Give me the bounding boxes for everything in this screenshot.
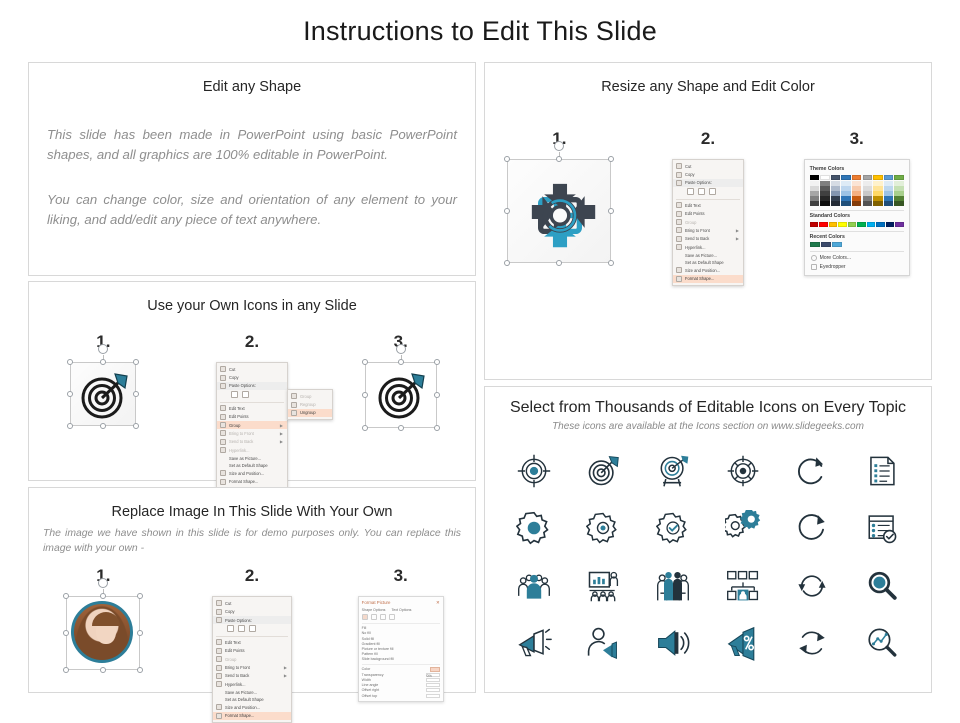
tint-column[interactable] <box>820 181 829 206</box>
size-position-icon <box>676 267 682 273</box>
step-number: 3. <box>850 129 864 149</box>
step-number: 2. <box>245 332 259 352</box>
context-menu-item-hyperlink[interactable]: Hyperlink... <box>673 243 743 251</box>
context-menu-item-edit-points[interactable]: Edit Points <box>217 413 287 421</box>
context-menu-item-copy[interactable]: Copy <box>673 170 743 178</box>
chevron-right-icon: ▶ <box>284 665 287 670</box>
edit-points-icon <box>216 648 222 654</box>
eyedropper-icon <box>811 264 817 270</box>
icon-cell[interactable] <box>656 511 690 545</box>
format-shape-icon <box>216 713 222 719</box>
own-icons-step-3: 3. <box>326 332 475 489</box>
panel-subtitle-icon-library: These icons are available at the Icons s… <box>485 421 931 432</box>
format-pane-tabs[interactable]: Shape Options Text Options <box>362 608 440 612</box>
hyperlink-icon <box>220 447 226 453</box>
rotate-handle-icon[interactable] <box>98 578 108 588</box>
theme-colors-row[interactable] <box>810 175 904 180</box>
icon-cell[interactable] <box>586 511 620 545</box>
panel-title-icon-library: Select from Thousands of Editable Icons … <box>485 399 931 417</box>
icon-cell[interactable] <box>865 454 899 488</box>
group-icon <box>291 393 297 399</box>
width-value[interactable] <box>426 678 440 682</box>
reload-circle-icon <box>795 511 829 545</box>
offset-right-value[interactable] <box>426 688 440 692</box>
more-colors-icon <box>811 255 817 261</box>
icon-cell[interactable] <box>795 569 829 603</box>
avatar <box>71 601 133 663</box>
circular-arrows-icon <box>795 626 829 660</box>
eyedropper-button[interactable]: Eyedropper <box>810 262 904 271</box>
edit-shape-paragraph-1: This slide has been made in PowerPoint u… <box>29 125 475 166</box>
bring-to-front-icon <box>676 227 682 233</box>
hyperlink-icon <box>676 244 682 250</box>
tint-column[interactable] <box>894 181 903 206</box>
fill-icon <box>362 614 368 620</box>
context-menu-item-set-default-shape[interactable]: Set as Default Shape <box>673 259 743 266</box>
step-artwork <box>70 362 136 426</box>
group-icon <box>220 422 226 428</box>
edit-points-icon <box>220 414 226 420</box>
context-menu-item-save-as-picture[interactable]: Save as Picture... <box>213 689 291 696</box>
context-menu-item-edit-text[interactable]: Edit Text <box>213 638 291 646</box>
step-artwork <box>66 596 140 670</box>
crosshair-scope-icon <box>725 453 761 489</box>
context-menu-item-set-default-shape[interactable]: Set as Default Shape <box>213 696 291 703</box>
transparency-value[interactable]: 0% <box>426 673 440 677</box>
swatch-theme-2[interactable] <box>831 175 840 180</box>
swatch-theme-1[interactable] <box>820 175 829 180</box>
icon-cell[interactable] <box>795 454 829 488</box>
ungroup-icon <box>291 410 297 416</box>
step-artwork: Cut Copy Paste Options: Edit Text Edit P… <box>212 596 292 723</box>
panel-replace-image: Replace Image In This Slide With Your Ow… <box>28 487 476 693</box>
icon-cell[interactable] <box>725 568 761 604</box>
people-three-icon <box>655 568 691 604</box>
crosshair-target-icon <box>516 453 552 489</box>
paste-merge-icon <box>709 188 716 195</box>
context-menu-item-group[interactable]: Group <box>673 218 743 226</box>
close-icon[interactable]: ✕ <box>436 600 440 606</box>
replace-image-steps: 1. 2. Cut Copy P <box>29 566 475 723</box>
checklist-document-icon <box>865 454 899 488</box>
swatch-standard-0[interactable] <box>810 222 818 227</box>
tint-column[interactable] <box>863 181 872 206</box>
step-artwork <box>365 362 437 428</box>
step-artwork <box>507 159 611 263</box>
paste-keep-formatting-icon <box>231 391 238 398</box>
icon-cell[interactable] <box>795 511 829 545</box>
context-menu-item-paste-options[interactable]: Paste Options: <box>213 616 291 624</box>
icon-cell[interactable] <box>865 569 899 603</box>
tab-text-options[interactable]: Text Options <box>391 608 411 612</box>
context-menu-item-edit-text[interactable]: Edit Text <box>673 201 743 209</box>
selected-image-frame[interactable] <box>66 596 140 670</box>
swatch-recent-1[interactable] <box>821 242 831 247</box>
context-menu-item-size-and-position[interactable]: Size and Position... <box>213 703 291 711</box>
context-menu-item-edit-points[interactable]: Edit Points <box>673 210 743 218</box>
dartboard-arrow-icon <box>77 369 131 421</box>
refresh-clockwise-icon <box>795 454 829 488</box>
icon-cell[interactable] <box>585 625 621 661</box>
swatch-standard-5[interactable] <box>857 222 865 227</box>
cut-icon <box>216 600 222 606</box>
panel-title-own-icons: Use your Own Icons in any Slide <box>29 298 475 314</box>
copy-icon <box>220 375 226 381</box>
paste-keep-formatting-icon <box>687 188 694 195</box>
size-position-icon <box>216 704 222 710</box>
person-megaphone-icon <box>585 625 621 661</box>
context-menu-item-edit-text[interactable]: Edit Text <box>217 404 287 412</box>
tint-column[interactable] <box>841 181 850 206</box>
edit-points-icon <box>676 211 682 217</box>
edit-text-icon <box>676 202 682 208</box>
swatch-theme-6[interactable] <box>873 175 882 180</box>
copy-icon <box>676 172 682 178</box>
fill-option-row[interactable]: Slide background fill <box>362 657 440 662</box>
panel-icon-library: Select from Thousands of Editable Icons … <box>484 386 932 693</box>
swatch-standard-7[interactable] <box>876 222 884 227</box>
own-icons-step-1: 1. <box>29 332 178 489</box>
context-menu-item-send-to-back[interactable]: Send to Back▶ <box>213 672 291 680</box>
selected-shape-frame[interactable] <box>70 362 136 426</box>
tint-column[interactable] <box>810 181 819 206</box>
panel-title-resize-shape: Resize any Shape and Edit Color <box>485 79 931 95</box>
sync-arrows-icon <box>795 569 829 603</box>
tint-column[interactable] <box>831 181 840 206</box>
gear-solid-icon <box>516 510 552 546</box>
tab-shape-options[interactable]: Shape Options <box>362 608 386 612</box>
own-icons-step-2: 2. Cut Copy Paste Options: Edit Text Edi… <box>178 332 327 489</box>
panel-edit-any-shape: Edit any Shape This slide has been made … <box>28 62 476 276</box>
more-colors-button[interactable]: More Colors... <box>810 253 904 262</box>
color-picker-dropdown[interactable]: Theme Colors <box>804 159 910 276</box>
step-artwork: Cut Copy Paste Options: Edit Text Edit P… <box>672 159 744 286</box>
rotate-handle-icon[interactable] <box>396 344 406 354</box>
panel-use-own-icons: Use your Own Icons in any Slide 1. <box>28 281 476 481</box>
paste-picture-icon <box>238 625 245 632</box>
step-number: 2. <box>245 566 259 586</box>
swatch-theme-4[interactable] <box>852 175 861 180</box>
format-shape-icon <box>676 276 682 282</box>
submenu-item-group[interactable]: Group <box>288 392 332 400</box>
group-submenu[interactable]: Group Regroup Ungroup <box>287 389 333 420</box>
format-pane-header: Format Picture ✕ <box>362 600 440 606</box>
swatch-standard-4[interactable] <box>848 222 856 227</box>
regroup-icon <box>291 402 297 408</box>
tint-column[interactable] <box>852 181 861 206</box>
panel-resize-shape-edit-color: Resize any Shape and Edit Color 1. <box>484 62 932 380</box>
swatch-theme-0[interactable] <box>810 175 819 180</box>
step-number: 2. <box>701 129 715 149</box>
swatch-standard-9[interactable] <box>895 222 903 227</box>
context-menu-item-paste-options[interactable]: Paste Options: <box>673 179 743 187</box>
presentation-audience-icon <box>585 568 621 604</box>
context-menu-item-send-to-back[interactable]: Send to Back▶ <box>217 438 287 446</box>
picture-icon <box>389 614 395 620</box>
step-number: 3. <box>394 566 408 586</box>
resize-shape-step-3: 3. Theme Colors <box>782 129 931 286</box>
offset-top-value[interactable] <box>426 694 440 698</box>
send-to-back-icon <box>220 439 226 445</box>
context-menu-item-copy[interactable]: Copy <box>213 608 291 616</box>
context-menu-item-set-default-shape[interactable]: Set as Default Shape <box>217 462 287 469</box>
context-menu-item-group[interactable]: Group▶ <box>217 421 287 429</box>
context-menu[interactable]: Cut Copy Paste Options: Edit Text Edit P… <box>216 362 288 489</box>
replace-image-step-1: 1. <box>29 566 178 723</box>
icon-cell[interactable] <box>516 625 552 661</box>
gear-check-icon <box>656 511 690 545</box>
tint-column[interactable] <box>884 181 893 206</box>
paste-keep-formatting-icon <box>227 625 234 632</box>
checklist-check-icon <box>865 511 899 545</box>
context-menu-item-size-and-position[interactable]: Size and Position... <box>673 266 743 274</box>
edit-shape-paragraph-2: You can change color, size and orientati… <box>29 190 475 231</box>
size-icon <box>380 614 386 620</box>
megaphone-icon <box>516 625 552 661</box>
gear-outline-icon <box>586 511 620 545</box>
format-shape-icon <box>220 479 226 485</box>
swatch-theme-7[interactable] <box>884 175 893 180</box>
icon-cell[interactable] <box>725 625 761 661</box>
paste-picture-icon <box>242 391 249 398</box>
icon-cell[interactable] <box>655 453 691 489</box>
swatch-theme-8[interactable] <box>894 175 903 180</box>
magnifier-chart-icon <box>865 626 899 660</box>
context-menu-item-size-and-position[interactable]: Size and Position... <box>217 469 287 477</box>
swatch-standard-6[interactable] <box>867 222 875 227</box>
replace-image-step-3: 3. Format Picture ✕ Shape Options Text O… <box>326 566 475 723</box>
theme-tints-grid[interactable] <box>810 181 904 206</box>
icon-cell[interactable] <box>585 568 621 604</box>
context-menu-item-format-shape[interactable]: Format Shape... <box>217 478 287 486</box>
resize-shape-step-1: 1. <box>485 129 634 286</box>
selected-shape-frame[interactable] <box>507 159 611 263</box>
theme-colors-label: Theme Colors <box>810 166 904 172</box>
color-chip[interactable] <box>430 667 440 672</box>
context-menu-item-cut[interactable]: Cut <box>217 365 287 373</box>
magnifier-icon <box>865 569 899 603</box>
chevron-right-icon: ▶ <box>284 673 287 678</box>
edit-text-icon <box>220 405 226 411</box>
submenu-item-regroup[interactable]: Regroup <box>288 400 332 408</box>
recent-colors-row[interactable] <box>810 242 842 247</box>
context-menu-item-copy[interactable]: Copy <box>217 373 287 381</box>
paste-icon <box>216 617 222 623</box>
cut-icon <box>220 366 226 372</box>
context-menu-item-save-as-picture[interactable]: Save as Picture... <box>217 454 287 461</box>
hyperlink-icon <box>216 681 222 687</box>
org-chart-icon <box>725 568 761 604</box>
rotate-handle-icon[interactable] <box>554 141 564 151</box>
double-gear-icon <box>725 510 761 546</box>
swatch-standard-3[interactable] <box>838 222 846 227</box>
bring-to-front-icon <box>220 430 226 436</box>
context-menu-item-format-shape[interactable]: Format Shape... <box>673 275 743 283</box>
step-artwork: Cut Copy Paste Options: Edit Text Edit P… <box>216 362 288 489</box>
icon-cell[interactable] <box>725 453 761 489</box>
context-menu-item-cut[interactable]: Cut <box>673 162 743 170</box>
target-stand-icon <box>655 453 691 489</box>
context-menu-item-edit-points[interactable]: Edit Points <box>213 647 291 655</box>
format-field-offset-top[interactable]: Offset top <box>362 693 440 698</box>
effects-icon <box>371 614 377 620</box>
megaphone-percent-icon <box>725 625 761 661</box>
paste-picture-icon <box>698 188 705 195</box>
context-menu[interactable]: Cut Copy Paste Options: Edit Text Edit P… <box>672 159 744 286</box>
swatch-theme-5[interactable] <box>863 175 872 180</box>
paste-merge-icon <box>249 625 256 632</box>
resize-shape-steps: 1. <box>485 129 931 286</box>
step-artwork: Theme Colors <box>804 159 910 276</box>
submenu-item-ungroup[interactable]: Ungroup <box>288 409 332 417</box>
panel-title-edit-shape: Edit any Shape <box>29 79 475 95</box>
loudspeaker-icon <box>655 625 691 661</box>
replace-image-note: The image we have shown in this slide is… <box>29 526 475 556</box>
paste-option-buttons[interactable] <box>217 390 287 400</box>
chevron-right-icon: ▶ <box>280 423 283 428</box>
context-menu-item-bring-to-front[interactable]: Bring to Front▶ <box>217 429 287 437</box>
swatch-theme-3[interactable] <box>841 175 850 180</box>
four-quadrant-cycle-shape-icon <box>516 168 604 256</box>
own-icons-steps: 1. <box>29 332 475 489</box>
page-title: Instructions to Edit This Slide <box>0 16 960 47</box>
icon-cell[interactable] <box>725 510 761 546</box>
swatch-standard-8[interactable] <box>886 222 894 227</box>
standard-colors-label: Standard Colors <box>810 213 904 219</box>
context-menu-item-format-shape[interactable]: Format Shape... <box>213 712 291 720</box>
chevron-right-icon: ▶ <box>280 439 283 444</box>
context-menu-item-paste-options[interactable]: Paste Options: <box>217 382 287 390</box>
copy-icon <box>216 609 222 615</box>
chevron-right-icon: ▶ <box>736 228 739 233</box>
icon-cell[interactable] <box>655 568 691 604</box>
send-to-back-icon <box>676 236 682 242</box>
dartboard-arrow-icon <box>585 453 621 489</box>
icon-cell[interactable] <box>865 511 899 545</box>
icon-grid <box>485 434 931 682</box>
panel-title-replace-image: Replace Image In This Slide With Your Ow… <box>29 504 475 520</box>
ungrouped-shape-frame[interactable] <box>365 362 437 428</box>
icon-cell[interactable] <box>655 625 691 661</box>
replace-image-step-2: 2. Cut Copy Paste Options: Edit Text Edi… <box>178 566 327 723</box>
icon-cell[interactable] <box>516 510 552 546</box>
format-pane-toolbar[interactable] <box>362 614 440 620</box>
edit-text-icon <box>216 639 222 645</box>
swatch-recent-2[interactable] <box>832 242 842 247</box>
group-icon <box>676 219 682 225</box>
chevron-right-icon: ▶ <box>280 431 283 436</box>
tint-column[interactable] <box>873 181 882 206</box>
context-menu[interactable]: Cut Copy Paste Options: Edit Text Edit P… <box>212 596 292 723</box>
context-menu-item-hyperlink[interactable]: Hyperlink... <box>213 680 291 688</box>
step-artwork: Format Picture ✕ Shape Options Text Opti… <box>358 596 444 702</box>
resize-shape-step-2: 2. Cut Copy Paste Options: Edit Text Edi… <box>634 129 783 286</box>
icon-cell[interactable] <box>795 626 829 660</box>
send-to-back-icon <box>216 673 222 679</box>
context-menu-item-save-as-picture[interactable]: Save as Picture... <box>673 251 743 258</box>
standard-colors-row[interactable] <box>810 222 904 227</box>
swatch-standard-2[interactable] <box>829 222 837 227</box>
context-menu-item-cut[interactable]: Cut <box>213 599 291 607</box>
slide-canvas: Instructions to Edit This Slide Edit any… <box>0 0 960 720</box>
icon-cell[interactable] <box>585 453 621 489</box>
line-angle-value[interactable] <box>426 683 440 687</box>
context-menu-item-hyperlink[interactable]: Hyperlink... <box>217 446 287 454</box>
context-menu-item-send-to-back[interactable]: Send to Back▶ <box>673 235 743 243</box>
context-menu-item-group[interactable]: Group <box>213 655 291 663</box>
paste-icon <box>220 383 226 389</box>
cut-icon <box>676 163 682 169</box>
team-group-icon <box>516 568 552 604</box>
context-menu-item-bring-to-front[interactable]: Bring to Front▶ <box>673 226 743 234</box>
chevron-right-icon: ▶ <box>736 236 739 241</box>
rotate-handle-icon[interactable] <box>98 344 108 354</box>
paste-icon <box>676 180 682 186</box>
paste-option-buttons[interactable] <box>213 624 291 634</box>
icon-cell[interactable] <box>516 453 552 489</box>
icon-cell[interactable] <box>516 568 552 604</box>
dartboard-arrow-icon <box>372 369 430 421</box>
format-picture-pane[interactable]: Format Picture ✕ Shape Options Text Opti… <box>358 596 444 702</box>
swatch-recent-0[interactable] <box>810 242 820 247</box>
context-menu-item-bring-to-front[interactable]: Bring to Front▶ <box>213 663 291 671</box>
bring-to-front-icon <box>216 665 222 671</box>
swatch-standard-1[interactable] <box>819 222 827 227</box>
recent-colors-label: Recent Colors <box>810 234 904 240</box>
size-position-icon <box>220 470 226 476</box>
format-pane-title: Format Picture <box>362 600 391 606</box>
icon-cell[interactable] <box>865 626 899 660</box>
group-icon <box>216 656 222 662</box>
paste-option-buttons[interactable] <box>673 187 743 197</box>
